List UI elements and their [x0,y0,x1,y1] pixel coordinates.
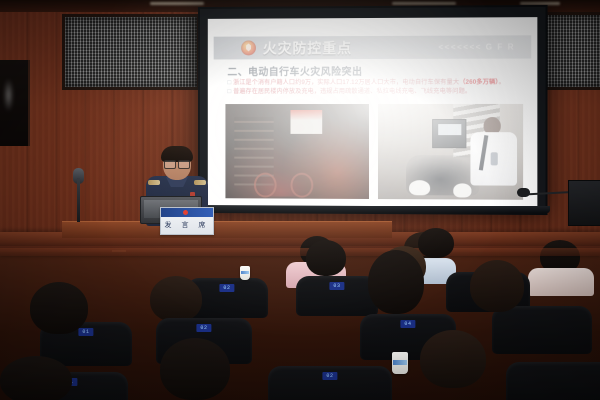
screen-bottom-rail [190,206,550,213]
audience-head [368,250,424,314]
wall-cabinet-door [0,60,30,146]
bullet-text: 浙江是个消有户籍人口约9万，实际人口17.12万居人口大市，电动自行车保有量大 [233,79,459,86]
helmet [409,180,429,195]
bullet-text-tail: 。 [499,79,505,86]
paper-cup [240,266,250,280]
slide-section-heading: 二、电动自行车火灾风险突出 [227,63,362,78]
seat-number: 01 [78,328,93,336]
audience-clothing [528,268,594,296]
projection-screen: 火灾防控重点 <<<<<<< G F R 二、电动自行车火灾风险突出 □浙江是个… [198,5,548,215]
seat-number: 02 [196,324,211,332]
slide-title: 火灾防控重点 [263,38,352,58]
fire-shield-icon [241,40,256,55]
bike-wheel [291,173,314,198]
row-desk-ledge [0,248,600,256]
officer-badge [491,153,498,166]
slide-bullet-list: □浙江是个消有户籍人口约9万，实际人口17.12万居人口大市，电动自行车保有量大… [227,78,525,96]
slide-photo-fire-scene [225,104,368,199]
seat-number: 04 [400,320,415,328]
mesh-acoustic-panel [62,14,200,90]
list-item: □浙江是个消有户籍人口约9万，实际人口17.12万居人口大市，电动自行车保有量大… [227,78,525,87]
shoulder-board [148,180,160,185]
audience-head [150,276,202,322]
slide-photo-row [225,104,523,200]
slide-photo-inspection [377,104,523,200]
projected-slide: 火灾防控重点 <<<<<<< G F R 二、电动自行车火灾风险突出 □浙江是个… [208,17,538,207]
seat-number: 03 [329,282,344,290]
stage-desk [62,221,392,238]
audience-head [0,356,72,400]
slide-title-bar: 火灾防控重点 <<<<<<< G F R [214,35,532,59]
seat[interactable]: 03 [296,276,378,316]
audience-head [160,338,230,400]
door-reflection [4,78,13,112]
seat[interactable]: 02 [268,366,392,400]
audience-head [470,260,524,312]
seat-number: 02 [322,372,337,380]
bullet-text: 普遍存在居民楼内停放及充电，违规占用疏散通道、私拉电线充电、飞线充电等问题。 [233,88,471,95]
wall-poster [291,110,323,135]
slide-chevron-decoration: <<<<<<< G F R [438,42,515,51]
bullet-marker: □ [227,88,231,95]
glasses-lens [164,160,176,169]
paper-cup [392,352,408,374]
bullet-marker: □ [227,79,231,86]
seat-number: 02 [219,284,234,292]
microphone-stand [77,178,80,222]
charging-cabinet [433,119,467,148]
auditorium-photo: 火灾防控重点 <<<<<<< G F R 二、电动自行车火灾风险突出 □浙江是个… [0,0,600,400]
bullet-highlight: （260多万辆） [459,79,498,86]
placard-text: 发 言 席 [161,220,213,230]
glasses-lens [178,160,190,169]
boom-microphone-icon [517,188,530,197]
inspecting-officer [468,117,521,198]
audience-head [306,240,346,276]
seat[interactable] [492,306,592,354]
shoulder-board [194,180,206,185]
list-item: □普遍存在居民楼内停放及充电，违规占用疏散通道、私拉电线充电、飞线充电等问题。 [227,87,525,96]
audience-head [30,282,88,334]
name-placard: 发 言 席 [160,207,214,235]
side-monitor [568,180,600,226]
audience-head [420,330,486,388]
seat[interactable] [506,362,600,400]
ceiling-light [150,2,204,5]
placard-header-band [161,208,213,217]
glasses-icon [164,160,190,167]
bike-wheel [254,173,276,198]
audience-head [418,228,454,258]
